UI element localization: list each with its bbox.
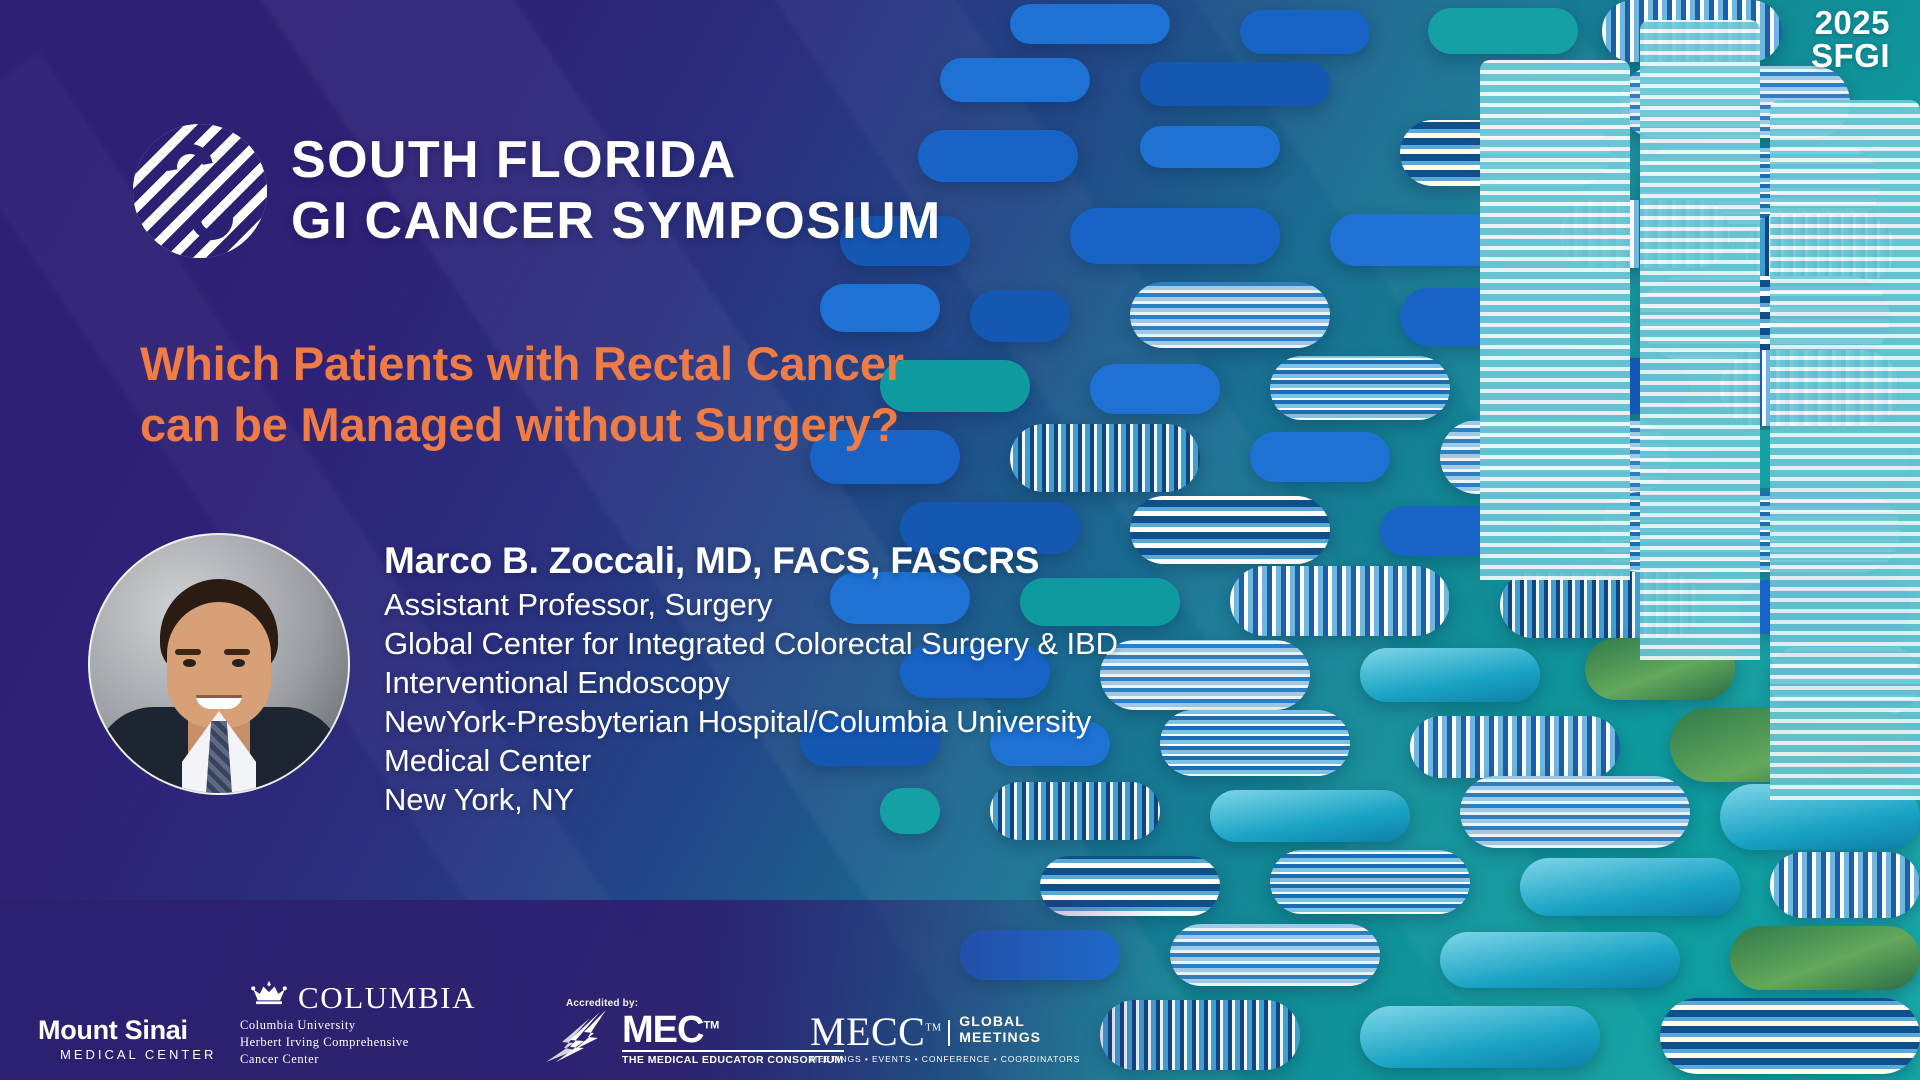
mecc-trademark: TM: [925, 1023, 941, 1034]
wordmark-line-2: GI CANCER SYMPOSIUM: [291, 191, 942, 252]
speaker-affiliation-2: Interventional Endoscopy: [384, 663, 1118, 702]
badge-year: 2025: [1811, 6, 1890, 39]
speaker-headshot: [88, 533, 350, 795]
speaker-affiliation-5: New York, NY: [384, 780, 1118, 819]
conference-title-slide: 2025 SFGI SOUTH FLORIDA GI CANCER SYMPOS…: [0, 0, 1920, 1080]
speaker-block: Marco B. Zoccali, MD, FACS, FASCRS Assis…: [88, 533, 1118, 819]
crown-icon: [250, 980, 288, 1006]
gi-coil-logo-icon: [133, 124, 267, 258]
mec-name: MEC: [622, 1009, 703, 1051]
mec-accredited-label: Accredited by:: [566, 998, 844, 1009]
speaker-affiliation-1: Global Center for Integrated Colorectal …: [384, 624, 1118, 663]
presentation-title: Which Patients with Rectal Cancer can be…: [140, 333, 1150, 455]
speaker-details: Marco B. Zoccali, MD, FACS, FASCRS Assis…: [384, 533, 1118, 819]
columbia-sub-1: Columbia University: [240, 1017, 476, 1034]
title-line-1: Which Patients with Rectal Cancer: [140, 333, 1150, 394]
symposium-wordmark: SOUTH FLORIDA GI CANCER SYMPOSIUM: [291, 130, 942, 253]
mec-trademark: TM: [703, 1019, 719, 1031]
mount-sinai-subtitle: MEDICAL CENTER: [60, 1047, 216, 1062]
sponsor-logo-columbia: COLUMBIA Columbia University Herbert Irv…: [240, 982, 476, 1068]
sponsor-logo-mecc: MECCTM GLOBAL MEETINGS MEETINGS • EVENTS…: [810, 1013, 1100, 1064]
title-line-2: can be Managed without Surgery?: [140, 394, 1150, 455]
columbia-subtitle: Columbia University Herbert Irving Compr…: [240, 1017, 476, 1068]
sponsor-logo-mount-sinai: Mount Sinai MEDICAL CENTER: [38, 1016, 216, 1062]
mecc-division: GLOBAL MEETINGS: [959, 1013, 1100, 1045]
mec-swoosh-icon: [540, 1010, 616, 1066]
mount-sinai-name: Mount Sinai: [38, 1016, 216, 1044]
speaker-affiliation-3: NewYork-Presbyterian Hospital/Columbia U…: [384, 702, 1118, 741]
columbia-name: COLUMBIA: [298, 982, 476, 1013]
sponsor-logo-mec: Accredited by: MECTM THE MEDICAL EDUCATO…: [540, 998, 844, 1066]
wordmark-line-1: SOUTH FLORIDA: [291, 130, 942, 191]
mecc-tagline: MEETINGS • EVENTS • CONFERENCE • COORDIN…: [810, 1054, 1100, 1064]
speaker-affiliation-0: Assistant Professor, Surgery: [384, 585, 1118, 624]
symposium-brand-lockup: SOUTH FLORIDA GI CANCER SYMPOSIUM: [133, 124, 942, 258]
badge-acronym: SFGI: [1811, 39, 1890, 72]
speaker-affiliation-4: Medical Center: [384, 741, 1118, 780]
mecc-divider: [948, 1020, 950, 1046]
sponsor-footer: Mount Sinai MEDICAL CENTER COLUMBIA Colu…: [0, 950, 1100, 1080]
speaker-name: Marco B. Zoccali, MD, FACS, FASCRS: [384, 539, 1118, 583]
columbia-sub-2: Herbert Irving Comprehensive: [240, 1034, 476, 1051]
columbia-sub-3: Cancer Center: [240, 1051, 476, 1068]
year-badge: 2025 SFGI: [1811, 6, 1890, 72]
mecc-name: MECC: [810, 1009, 925, 1054]
